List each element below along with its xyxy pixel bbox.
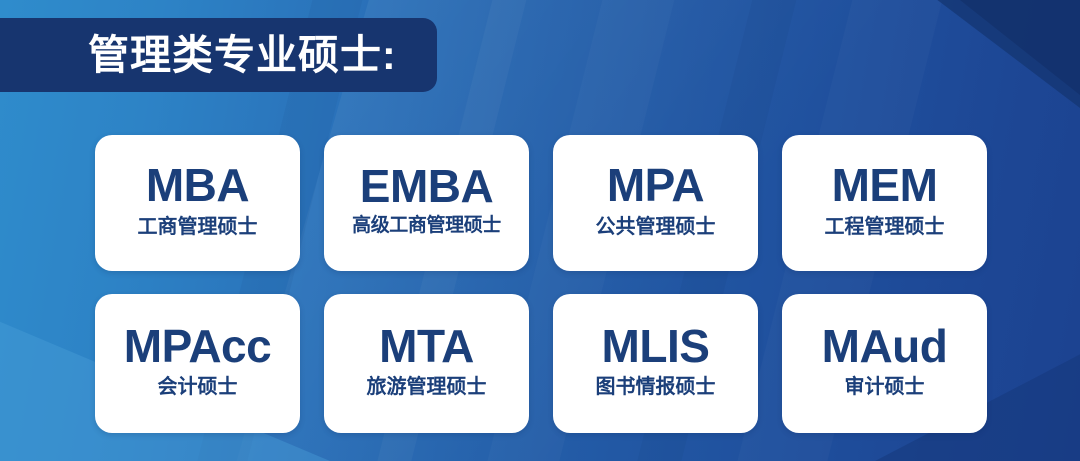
- degree-card-name: 会计硕士: [158, 376, 238, 398]
- header-banner: 管理类专业硕士:: [0, 18, 437, 92]
- degree-card-code: MPA: [607, 162, 704, 210]
- degree-card[interactable]: MTA旅游管理硕士: [324, 294, 529, 433]
- degree-card[interactable]: MPAcc会计硕士: [95, 294, 300, 433]
- degree-card[interactable]: MAud审计硕士: [782, 294, 987, 433]
- page-title: 管理类专业硕士:: [88, 35, 397, 76]
- degree-card-name: 工程管理硕士: [825, 216, 945, 238]
- degree-card[interactable]: MPA公共管理硕士: [553, 135, 758, 271]
- degree-card[interactable]: MLIS图书情报硕士: [553, 294, 758, 433]
- degree-card-grid: MBA工商管理硕士EMBA高级工商管理硕士MPA公共管理硕士MEM工程管理硕士M…: [95, 135, 985, 433]
- degree-card-code: MLIS: [602, 323, 710, 371]
- poster-root: 管理类专业硕士: MBA工商管理硕士EMBA高级工商管理硕士MPA公共管理硕士M…: [0, 0, 1080, 461]
- degree-card-name: 高级工商管理硕士: [352, 216, 501, 237]
- degree-card[interactable]: MEM工程管理硕士: [782, 135, 987, 271]
- degree-card-code: MTA: [379, 323, 474, 371]
- degree-card-code: MPAcc: [124, 323, 271, 371]
- degree-card-code: MBA: [146, 162, 249, 210]
- degree-card-name: 图书情报硕士: [596, 376, 716, 398]
- degree-card-code: MEM: [832, 162, 938, 210]
- degree-card[interactable]: MBA工商管理硕士: [95, 135, 300, 271]
- degree-card-code: MAud: [822, 323, 948, 371]
- background-wedge-top-right: [850, 0, 1080, 150]
- degree-card-name: 公共管理硕士: [596, 216, 716, 238]
- degree-card-name: 旅游管理硕士: [367, 376, 487, 398]
- degree-card[interactable]: EMBA高级工商管理硕士: [324, 135, 529, 271]
- degree-card-name: 审计硕士: [845, 376, 925, 398]
- degree-card-code: EMBA: [360, 163, 493, 211]
- background-wedge-top-right-2: [960, 0, 1080, 95]
- degree-card-name: 工商管理硕士: [138, 216, 258, 238]
